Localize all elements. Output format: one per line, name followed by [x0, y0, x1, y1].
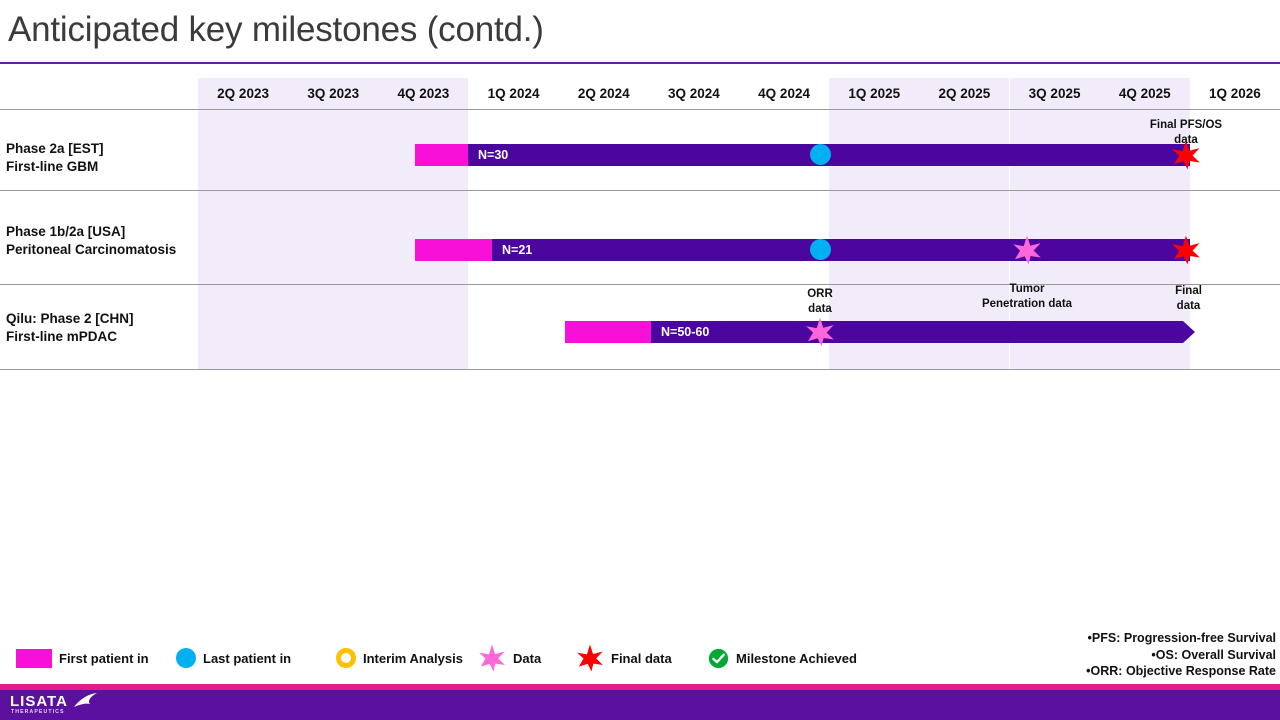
legend-label: Data: [513, 651, 541, 666]
row-label-line1: Qilu: Phase 2 [CHN]: [6, 310, 134, 328]
legend-item-final-data[interactable]: Final data: [576, 640, 672, 676]
magenta-rect-icon: [16, 649, 52, 668]
legend-label: Final data: [611, 651, 672, 666]
row3-data-label: ORR data: [770, 287, 870, 317]
quarter-header-1q-2024: 1Q 2024: [469, 86, 559, 106]
blue-circle-icon: [176, 648, 196, 668]
slide-root: Anticipated key milestones (contd.) 2Q 2…: [0, 0, 1280, 720]
quarter-header-3q-2024: 3Q 2024: [649, 86, 739, 106]
red-star-icon: [576, 644, 604, 672]
marker-label-line2: data: [1116, 133, 1256, 148]
quarter-header-4q-2023: 4Q 2023: [378, 86, 468, 106]
marker-label-line1: Final: [1136, 284, 1241, 299]
legend: First patient in Last patient in Interim…: [0, 640, 900, 680]
leaf-swoosh-icon: [72, 693, 98, 716]
bullet-icon: •: [1077, 663, 1091, 680]
quarter-header-1q-2025: 1Q 2025: [829, 86, 919, 106]
row3-bar-body: [565, 321, 1183, 343]
title-divider: [0, 62, 1280, 64]
row3-bar-arrowhead-icon: [1183, 321, 1195, 343]
quarter-header-3q-2023: 3Q 2023: [288, 86, 378, 106]
abbreviations-list: •PFS: Progression-free Survival •OS: Ove…: [856, 630, 1276, 680]
row2-data-label: Tumor Penetration data: [947, 282, 1107, 312]
legend-label: First patient in: [59, 651, 149, 666]
quarter-header-4q-2025: 4Q 2025: [1100, 86, 1190, 106]
row1-n-label: N=30: [478, 144, 508, 166]
marker-label-line1: ORR: [770, 287, 870, 302]
logo-wordmark: LISATA: [10, 694, 68, 709]
marker-label-line2: data: [1136, 299, 1241, 314]
row2-first-patient-in-block[interactable]: [415, 239, 492, 261]
legend-item-data[interactable]: Data: [478, 640, 541, 676]
quarter-header-3q-2025: 3Q 2025: [1010, 86, 1100, 106]
pink-star-icon: [478, 644, 506, 672]
row2-data-star-icon[interactable]: [1012, 235, 1042, 265]
legend-item-first-patient-in[interactable]: First patient in: [16, 640, 149, 676]
marker-label-line2: Penetration data: [947, 297, 1107, 312]
row-label-phase1b2a-usa: Phase 1b/2a [USA] Peritoneal Carcinomato…: [6, 223, 176, 259]
legend-label: Milestone Achieved: [736, 651, 857, 666]
grid-line-header: [0, 109, 1280, 110]
row-label-line1: Phase 2a [EST]: [6, 140, 104, 158]
quarter-header-2q-2024: 2Q 2024: [559, 86, 649, 106]
row-label-line2: First-line GBM: [6, 158, 104, 176]
row-label-line2: Peritoneal Carcinomatosis: [6, 241, 176, 259]
legend-item-last-patient-in[interactable]: Last patient in: [176, 640, 291, 676]
abbreviation-item: •PFS: Progression-free Survival: [856, 630, 1276, 647]
row2-final-data-label: Final data: [1136, 284, 1241, 314]
abbreviation-item: •ORR: Objective Response Rate: [856, 663, 1276, 680]
abbreviation-text: OS: Overall Survival: [1156, 648, 1276, 662]
row1-last-patient-in-dot[interactable]: [810, 144, 831, 165]
footer-bar: [0, 690, 1280, 720]
milestones-gantt-chart: 2Q 20233Q 20234Q 20231Q 20242Q 20243Q 20…: [0, 78, 1280, 370]
row1-final-data-label: Final PFS/OS data: [1116, 118, 1256, 148]
row2-n-label: N=21: [502, 239, 532, 261]
row-label-qilu-phase2-chn: Qilu: Phase 2 [CHN] First-line mPDAC: [6, 310, 134, 346]
green-check-icon: [708, 648, 729, 669]
row3-timeline-bar[interactable]: [565, 321, 1195, 343]
row3-first-patient-in-block[interactable]: [565, 321, 651, 343]
legend-label: Last patient in: [203, 651, 291, 666]
legend-item-interim-analysis[interactable]: Interim Analysis: [336, 640, 463, 676]
legend-label: Interim Analysis: [363, 651, 463, 666]
bullet-icon: •: [1078, 630, 1092, 647]
row1-timeline-bar[interactable]: [415, 144, 1190, 166]
row-label-line1: Phase 1b/2a [USA]: [6, 223, 176, 241]
quarter-band-2q-2023: [198, 78, 288, 370]
legend-item-milestone-achieved[interactable]: Milestone Achieved: [708, 640, 857, 676]
row1-first-patient-in-block[interactable]: [415, 144, 468, 166]
row-label-line2: First-line mPDAC: [6, 328, 134, 346]
marker-label-line1: Final PFS/OS: [1116, 118, 1256, 133]
marker-label-line2: data: [770, 302, 870, 317]
grid-line-row1: [0, 190, 1280, 191]
quarter-header-4q-2024: 4Q 2024: [739, 86, 829, 106]
row2-final-data-star-icon[interactable]: [1171, 235, 1201, 265]
quarter-header-2q-2025: 2Q 2025: [919, 86, 1009, 106]
logo-tagline: THERAPEUTICS: [11, 709, 65, 715]
quarter-header-2q-2023: 2Q 2023: [198, 86, 288, 106]
grid-line-bottom: [0, 369, 1280, 370]
abbreviation-item: •OS: Overall Survival: [856, 647, 1276, 664]
row2-last-patient-in-dot[interactable]: [810, 239, 831, 260]
page-title: Anticipated key milestones (contd.): [8, 10, 544, 50]
abbreviation-text: ORR: Objective Response Rate: [1091, 664, 1276, 678]
row-label-phase2a-est: Phase 2a [EST] First-line GBM: [6, 140, 104, 176]
quarter-band-3q-2023: [288, 78, 378, 370]
row3-data-star-icon[interactable]: [805, 317, 835, 347]
abbreviation-text: PFS: Progression-free Survival: [1092, 631, 1276, 645]
quarter-header-1q-2026: 1Q 2026: [1190, 86, 1280, 106]
row3-n-label: N=50-60: [661, 321, 709, 343]
quarter-band-4q-2023: [378, 78, 468, 370]
gold-ring-icon: [336, 648, 356, 668]
lisata-logo: LISATA THERAPEUTICS: [10, 694, 68, 716]
bullet-icon: •: [1142, 647, 1156, 664]
marker-label-line1: Tumor: [947, 282, 1107, 297]
